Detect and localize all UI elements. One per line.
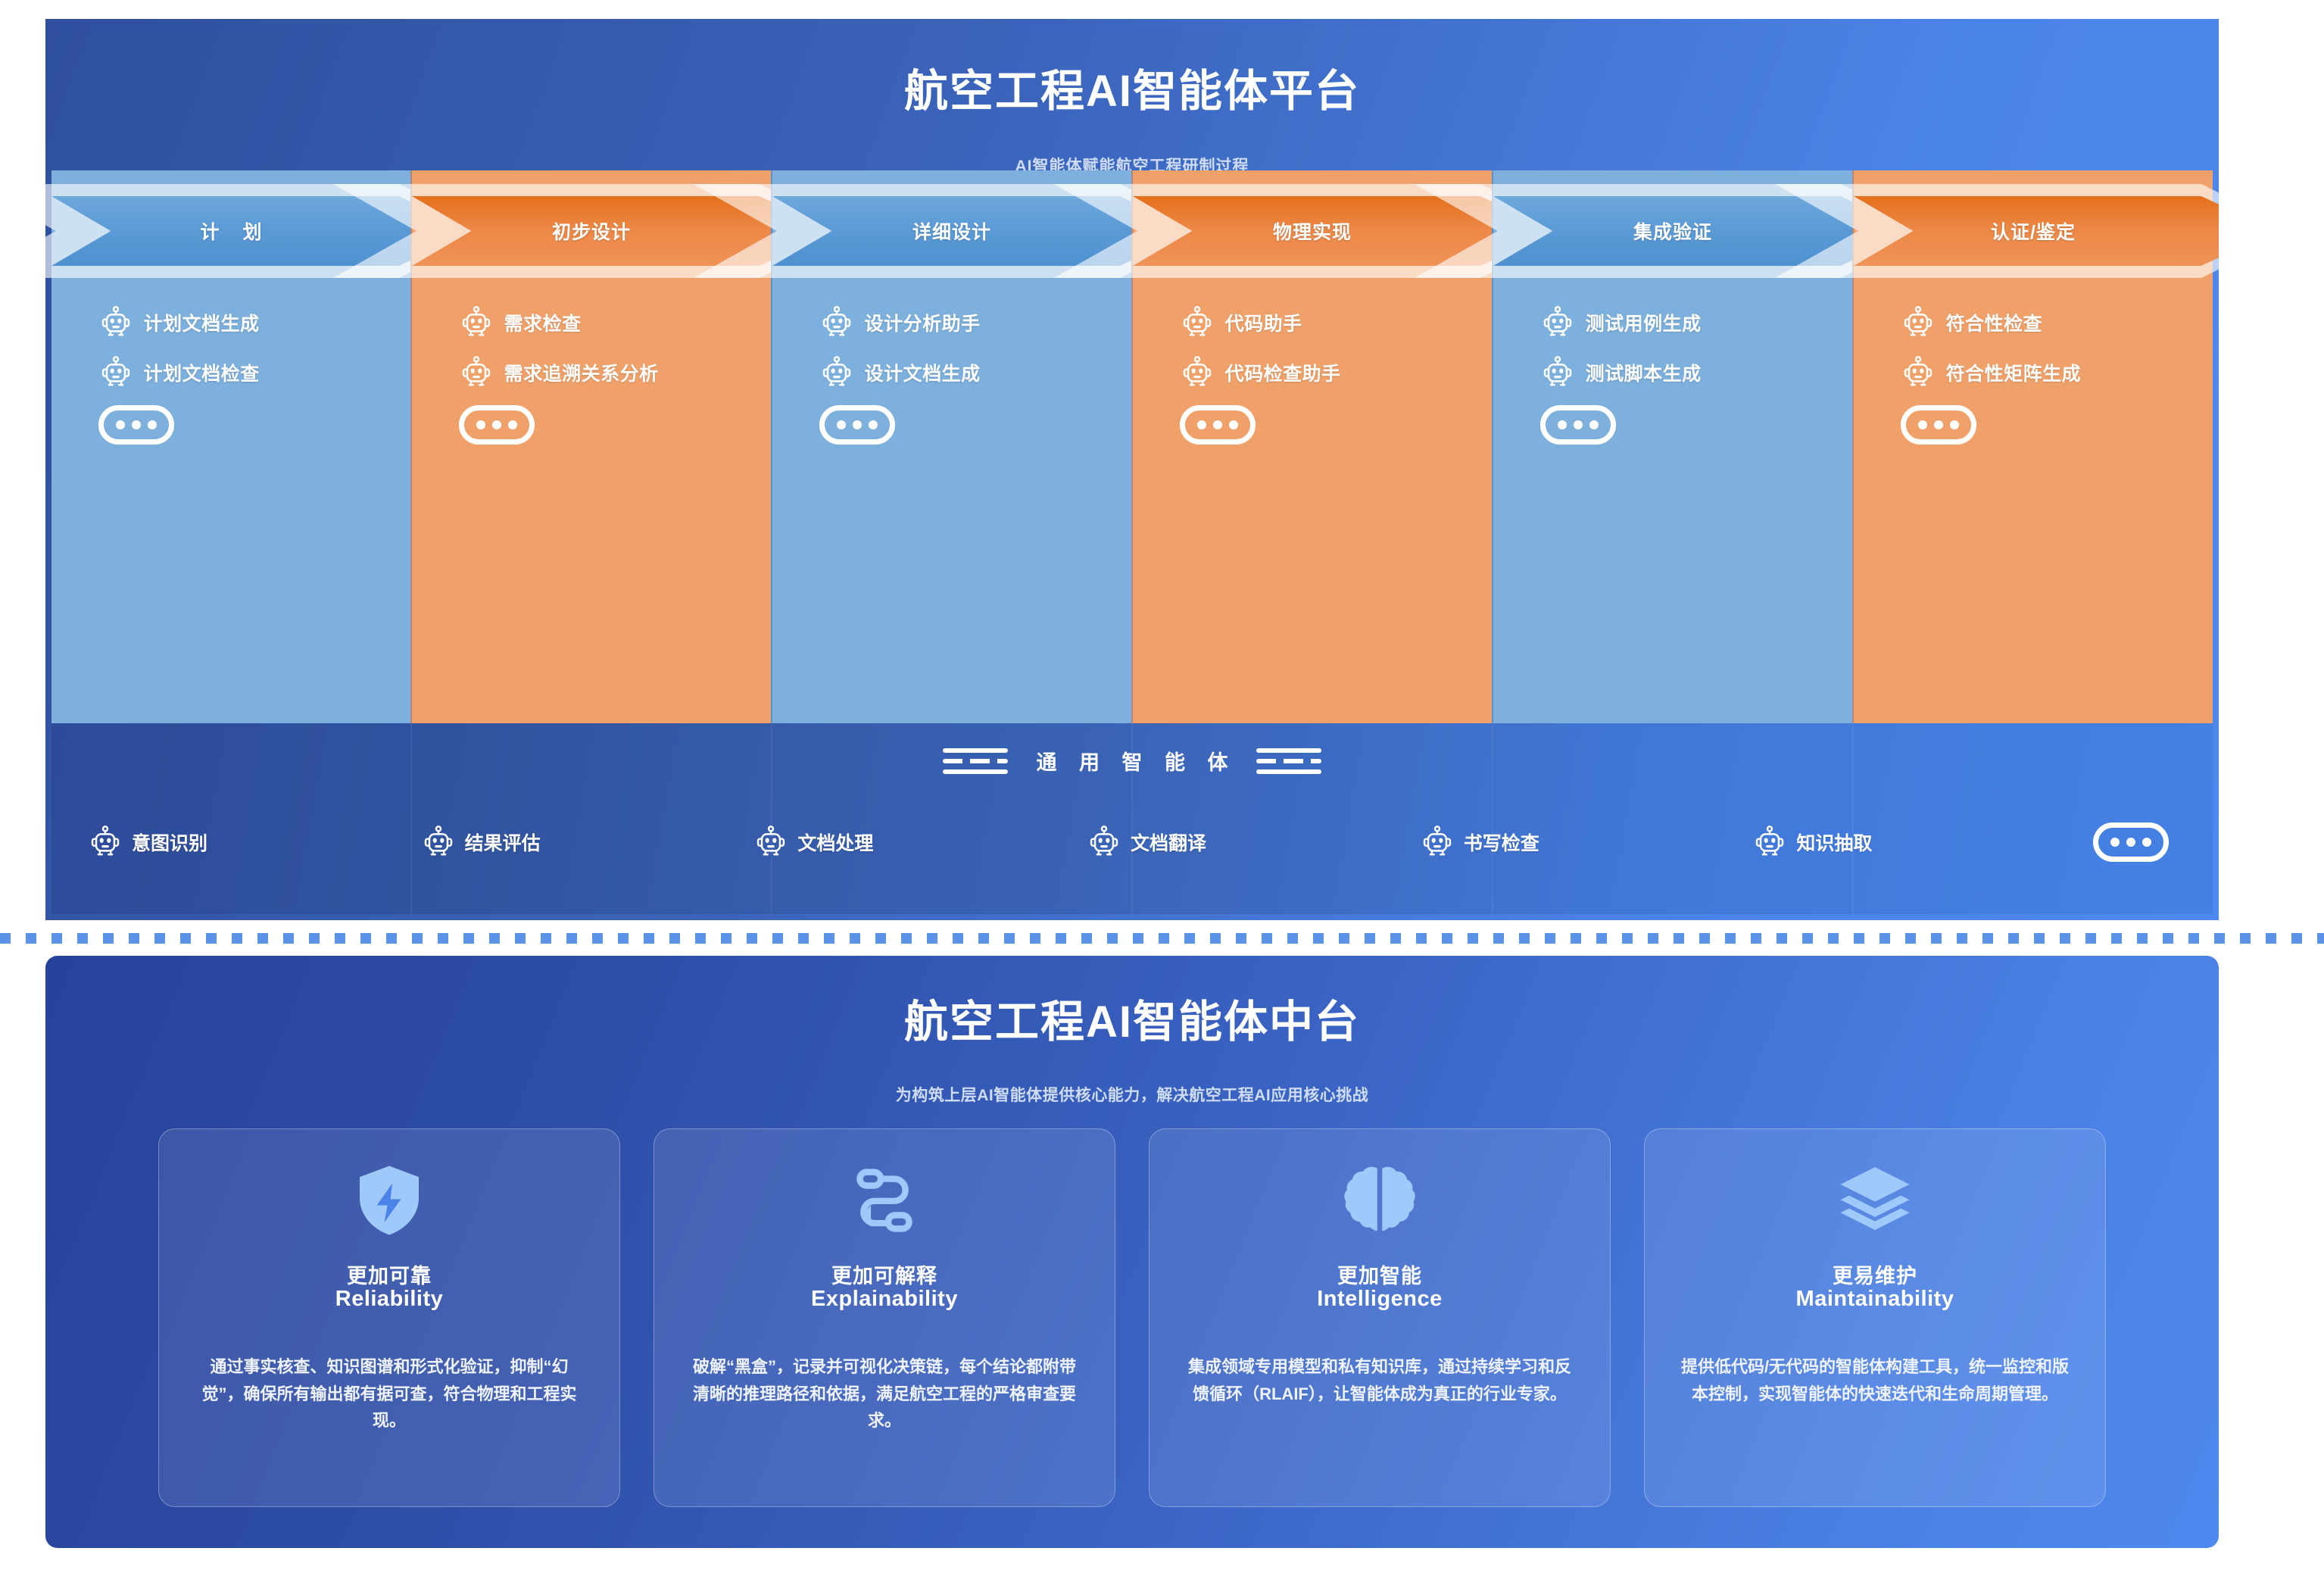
layers-icon [1836,1161,1914,1240]
ellipsis-dot-icon [1574,420,1583,429]
more-agents-button[interactable] [1901,405,1976,445]
robot-icon [1087,825,1121,860]
agent-midplatform-panel: 航空工程AI智能体中台 为构筑上层AI智能体提供核心能力，解决航空工程AI应用核… [45,956,2219,1548]
card-description: 集成领域专用模型和私有知识库，通过持续学习和反馈循环（RLAIF），让智能体成为… [1184,1353,1575,1407]
ellipsis-dot-icon [2126,838,2135,847]
winding-path-icon [845,1161,924,1240]
agent-label: 代码助手 [1225,309,1302,336]
general-agent-title: 通 用 智 能 体 [51,746,2213,776]
card-title-en: Reliability [159,1287,619,1312]
agent-label: 计划文档检查 [144,359,260,386]
agent-item[interactable]: 设计文档生成 [772,348,1131,398]
general-agent-item[interactable]: 文档翻译 [1087,825,1420,860]
general-agent-item[interactable]: 文档处理 [753,825,1087,860]
phase-agent-list: 需求检查需求追溯关系分析 [412,298,771,398]
card-icon-wrap [654,1155,1115,1246]
robot-icon [459,305,494,340]
card-icon-wrap [1150,1155,1610,1246]
agent-item[interactable]: 计划文档生成 [51,298,410,348]
robot-icon [459,355,494,390]
agent-item[interactable]: 设计分析助手 [772,298,1131,348]
robot-icon [1901,355,1936,390]
phase-arrow-label: 物理实现 [1133,196,1492,266]
phase-columns: 计 划计划文档生成计划文档检查初步设计需求检查需求追溯关系分析详细设计设计分析助… [51,170,2213,723]
card-title-cn: 更易维护 [1645,1259,2105,1289]
general-agent-label: 文档处理 [797,829,873,856]
card-title-cn: 更加可靠 [159,1259,619,1289]
phase-column-3: 详细设计设计分析助手设计文档生成 [771,170,1131,723]
agent-item[interactable]: 需求检查 [412,298,771,348]
phase-arrow-label: 详细设计 [772,196,1131,266]
ellipsis-dot-icon [1558,420,1567,429]
capability-card-intelligence[interactable]: 更加智能Intelligence集成领域专用模型和私有知识库，通过持续学习和反馈… [1149,1128,1611,1507]
phase-agent-list: 符合性检查符合性矩阵生成 [1854,298,2213,398]
robot-icon [98,305,133,340]
general-agent-label: 意图识别 [132,829,207,856]
ellipsis-dot-icon [853,420,862,429]
agent-item[interactable]: 代码检查助手 [1133,348,1492,398]
agent-label: 测试用例生成 [1586,309,1702,336]
more-agents-button[interactable] [819,405,895,445]
agent-item[interactable]: 符合性检查 [1854,298,2213,348]
robot-icon [421,825,456,860]
ellipsis-dot-icon [1229,420,1238,429]
more-agents-button[interactable] [1180,405,1256,445]
general-agent-label: 文档翻译 [1131,829,1206,856]
phase-column-6: 认证/鉴定符合性检查符合性矩阵生成 [1852,170,2213,723]
agent-label: 符合性检查 [1946,309,2043,336]
phase-agent-list: 计划文档生成计划文档检查 [51,298,410,398]
more-agents-button[interactable] [1540,405,1616,445]
phase-column-2: 初步设计需求检查需求追溯关系分析 [410,170,771,723]
capability-card-explainability[interactable]: 更加可解释Explainability破解“黑盒”，记录并可视化决策链，每个结论… [654,1128,1115,1507]
agent-platform-panel: 航空工程AI智能体平台 AI智能体赋能航空工程研制过程 计 划计划文档生成计划文… [45,19,2219,920]
phase-column-5: 集成验证测试用例生成测试脚本生成 [1492,170,1852,723]
ellipsis-dot-icon [476,420,485,429]
phase-arrow-label: 初步设计 [412,196,771,266]
phase-agent-list: 代码助手代码检查助手 [1133,298,1492,398]
capability-card-reliability[interactable]: 更加可靠Reliability通过事实核查、知识图谱和形式化验证，抑制“幻觉”，… [158,1128,620,1507]
agent-item[interactable]: 测试脚本生成 [1493,348,1852,398]
robot-icon [1420,825,1455,860]
phase-arrow-label: 认证/鉴定 [1854,196,2213,266]
capability-card-maintainability[interactable]: 更易维护Maintainability提供低代码/无代码的智能体构建工具，统一监… [1644,1128,2106,1507]
robot-icon [98,355,133,390]
general-agent-item[interactable]: 书写检查 [1420,825,1753,860]
agent-item[interactable]: 符合性矩阵生成 [1854,348,2213,398]
general-agent-band: 通 用 智 能 体 意图识别结果评估文档处理文档翻译书写检查知识抽取 [51,723,2213,914]
card-title-en: Intelligence [1150,1287,1610,1312]
general-agent-list: 意图识别结果评估文档处理文档翻译书写检查知识抽取 [51,808,2213,876]
phase-agent-list: 测试用例生成测试脚本生成 [1493,298,1852,398]
ellipsis-dot-icon [2110,838,2120,847]
ellipsis-dot-icon [1197,420,1206,429]
dash-marker-left-icon [943,748,1008,774]
more-agents-button[interactable] [459,405,535,445]
ellipsis-dot-icon [508,420,517,429]
card-description: 提供低代码/无代码的智能体构建工具，统一监控和版本控制，实现智能体的快速迭代和生… [1680,1353,2070,1407]
general-agent-more [2085,822,2176,862]
ellipsis-dot-icon [1934,420,1943,429]
section-divider [0,933,2324,944]
robot-icon [753,825,788,860]
agent-label: 需求检查 [504,309,582,336]
ellipsis-dot-icon [492,420,501,429]
ellipsis-dot-icon [116,420,125,429]
ellipsis-dot-icon [869,420,878,429]
card-description: 破解“黑盒”，记录并可视化决策链，每个结论都附带清晰的推理路径和依据，满足航空工… [689,1353,1080,1434]
phase-arrow-label: 集成验证 [1493,196,1852,266]
card-description: 通过事实核查、知识图谱和形式化验证，抑制“幻觉”，确保所有输出都有据可查，符合物… [194,1353,585,1434]
agent-label: 设计分析助手 [865,309,981,336]
agent-item[interactable]: 需求追溯关系分析 [412,348,771,398]
more-agents-button[interactable] [2093,822,2169,862]
robot-icon [88,825,123,860]
ellipsis-dot-icon [1213,420,1222,429]
robot-icon [1752,825,1787,860]
general-agent-item[interactable]: 知识抽取 [1752,825,2085,860]
robot-icon [819,355,854,390]
infographic-root: 航空工程AI智能体平台 AI智能体赋能航空工程研制过程 计 划计划文档生成计划文… [0,0,2324,1573]
agent-item[interactable]: 测试用例生成 [1493,298,1852,348]
more-agents-button[interactable] [98,405,174,445]
card-icon-wrap [159,1155,619,1246]
general-agent-title-text: 通 用 智 能 体 [1028,746,1236,776]
robot-icon [1901,305,1936,340]
general-agent-label: 结果评估 [465,829,541,856]
general-agent-item[interactable]: 结果评估 [421,825,754,860]
platform-header: 航空工程AI智能体平台 AI智能体赋能航空工程研制过程 [45,19,2219,170]
robot-icon [1180,305,1215,340]
phase-agent-list: 设计分析助手设计文档生成 [772,298,1131,398]
robot-icon [1540,305,1575,340]
ellipsis-dot-icon [2142,838,2151,847]
dash-marker-right-icon [1256,748,1321,774]
ellipsis-dot-icon [148,420,157,429]
ellipsis-dot-icon [1950,420,1959,429]
card-title-en: Maintainability [1645,1287,2105,1312]
ellipsis-dot-icon [1918,420,1927,429]
midplatform-subtitle: 为构筑上层AI智能体提供核心能力，解决航空工程AI应用核心挑战 [45,1083,2219,1106]
agent-label: 符合性矩阵生成 [1946,359,2082,386]
brain-icon [1340,1161,1419,1240]
card-icon-wrap [1645,1155,2105,1246]
card-title-cn: 更加可解释 [654,1259,1115,1289]
ellipsis-dot-icon [837,420,846,429]
robot-icon [1180,355,1215,390]
agent-label: 需求追溯关系分析 [504,359,659,386]
phase-arrow[interactable]: 认证/鉴定 [1854,170,2213,292]
robot-icon [819,305,854,340]
general-agent-label: 书写检查 [1464,829,1539,856]
agent-label: 代码检查助手 [1225,359,1341,386]
general-agent-label: 知识抽取 [1796,829,1872,856]
midplatform-title: 航空工程AI智能体中台 [45,986,2219,1050]
page-title: 航空工程AI智能体平台 [45,55,2219,119]
phase-column-4: 物理实现代码助手代码检查助手 [1131,170,1492,723]
ellipsis-dot-icon [1589,420,1599,429]
card-title-en: Explainability [654,1287,1115,1312]
phase-column-1: 计 划计划文档生成计划文档检查 [51,170,410,723]
card-title-cn: 更加智能 [1150,1259,1610,1289]
agent-label: 设计文档生成 [865,359,981,386]
capability-cards: 更加可靠Reliability通过事实核查、知识图谱和形式化验证，抑制“幻觉”，… [45,1128,2219,1516]
agent-label: 测试脚本生成 [1586,359,1702,386]
agent-item[interactable]: 计划文档检查 [51,348,410,398]
ellipsis-dot-icon [132,420,141,429]
phase-arrow-label: 计 划 [51,196,410,266]
general-agent-item[interactable]: 意图识别 [88,825,421,860]
agent-item[interactable]: 代码助手 [1133,298,1492,348]
shield-bolt-icon [350,1161,429,1240]
agent-label: 计划文档生成 [144,309,260,336]
robot-icon [1540,355,1575,390]
